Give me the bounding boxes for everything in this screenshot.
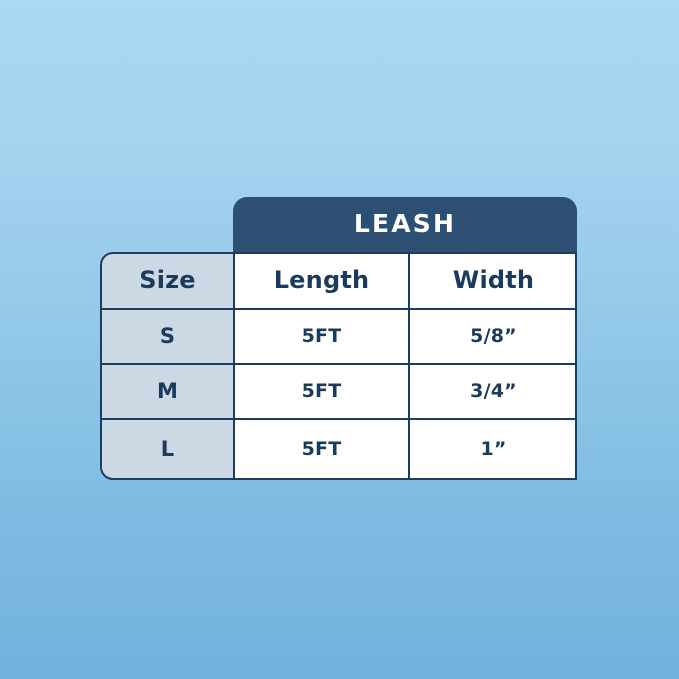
table-row-width-value: 1” [410, 418, 577, 480]
table-row-length-value: 5FT [235, 418, 408, 480]
table-row-length-value: 5FT [235, 363, 408, 418]
table-row-size-value: M [100, 363, 235, 418]
table-row-size-value: S [100, 308, 235, 363]
header-cell-width: Width [410, 252, 577, 308]
table-row-width-value: 5/8” [410, 308, 577, 363]
header-cell-length: Length [235, 252, 408, 308]
size-chart-header-bar: LEASH [233, 197, 577, 252]
table-row-width-value: 3/4” [410, 363, 577, 418]
size-chart-table: LEASH Size Length Width S 5FT 5/8” M 5FT… [100, 197, 577, 480]
poster-canvas: LEASH Size Length Width S 5FT 5/8” M 5FT… [0, 0, 679, 679]
table-row-size-value: L [100, 418, 235, 480]
header-cell-size: Size [100, 252, 235, 308]
table-row-length-value: 5FT [235, 308, 408, 363]
size-chart-title: LEASH [233, 209, 577, 239]
